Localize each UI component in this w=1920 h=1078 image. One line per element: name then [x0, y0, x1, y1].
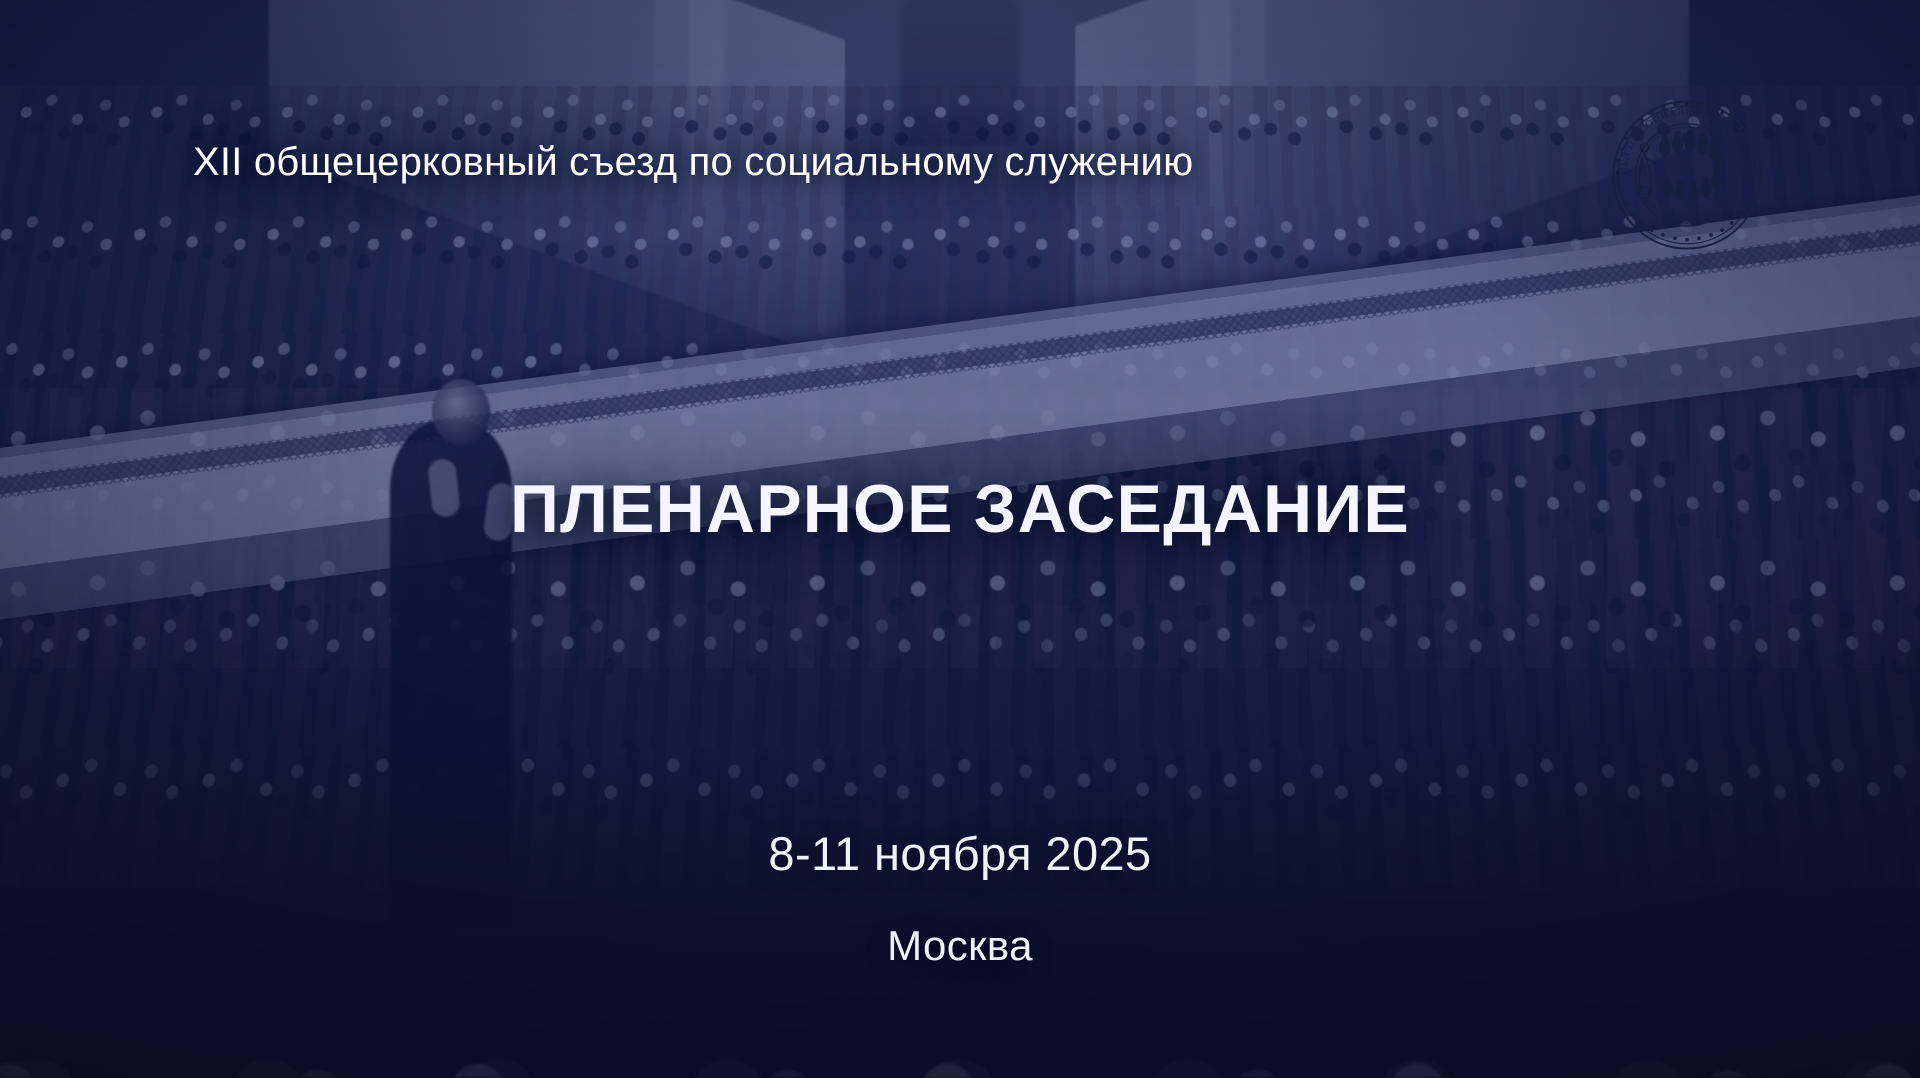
seal-ring-text: ОТДЕЛ ПО СОЦИАЛЬНОМУ СЛУЖЕНИЮ: [1607, 95, 1756, 178]
event-date: 8-11 ноября 2025: [0, 826, 1920, 881]
seal-inner-text: Русская Православная Церковь: [1643, 191, 1732, 223]
church-seal-logo: ОТДЕЛ ПО СОЦИАЛЬНОМУ СЛУЖЕНИЮ: [1607, 95, 1767, 255]
congress-title: XII общецерковный съезд по социальному с…: [193, 140, 1193, 185]
conference-title-slide: XII общецерковный съезд по социальному с…: [0, 0, 1920, 1078]
page-title: ПЛЕНАРНОЕ ЗАСЕДАНИЕ: [0, 470, 1920, 548]
seal-ring-text-path: ОТДЕЛ ПО СОЦИАЛЬНОМУ СЛУЖЕНИЮ: [1607, 95, 1756, 178]
seal-inner-text-path: Русская Православная Церковь: [1643, 191, 1732, 223]
event-city: Москва: [0, 922, 1920, 970]
seal-figures: [1659, 130, 1725, 201]
slide-content: XII общецерковный съезд по социальному с…: [0, 0, 1920, 1078]
